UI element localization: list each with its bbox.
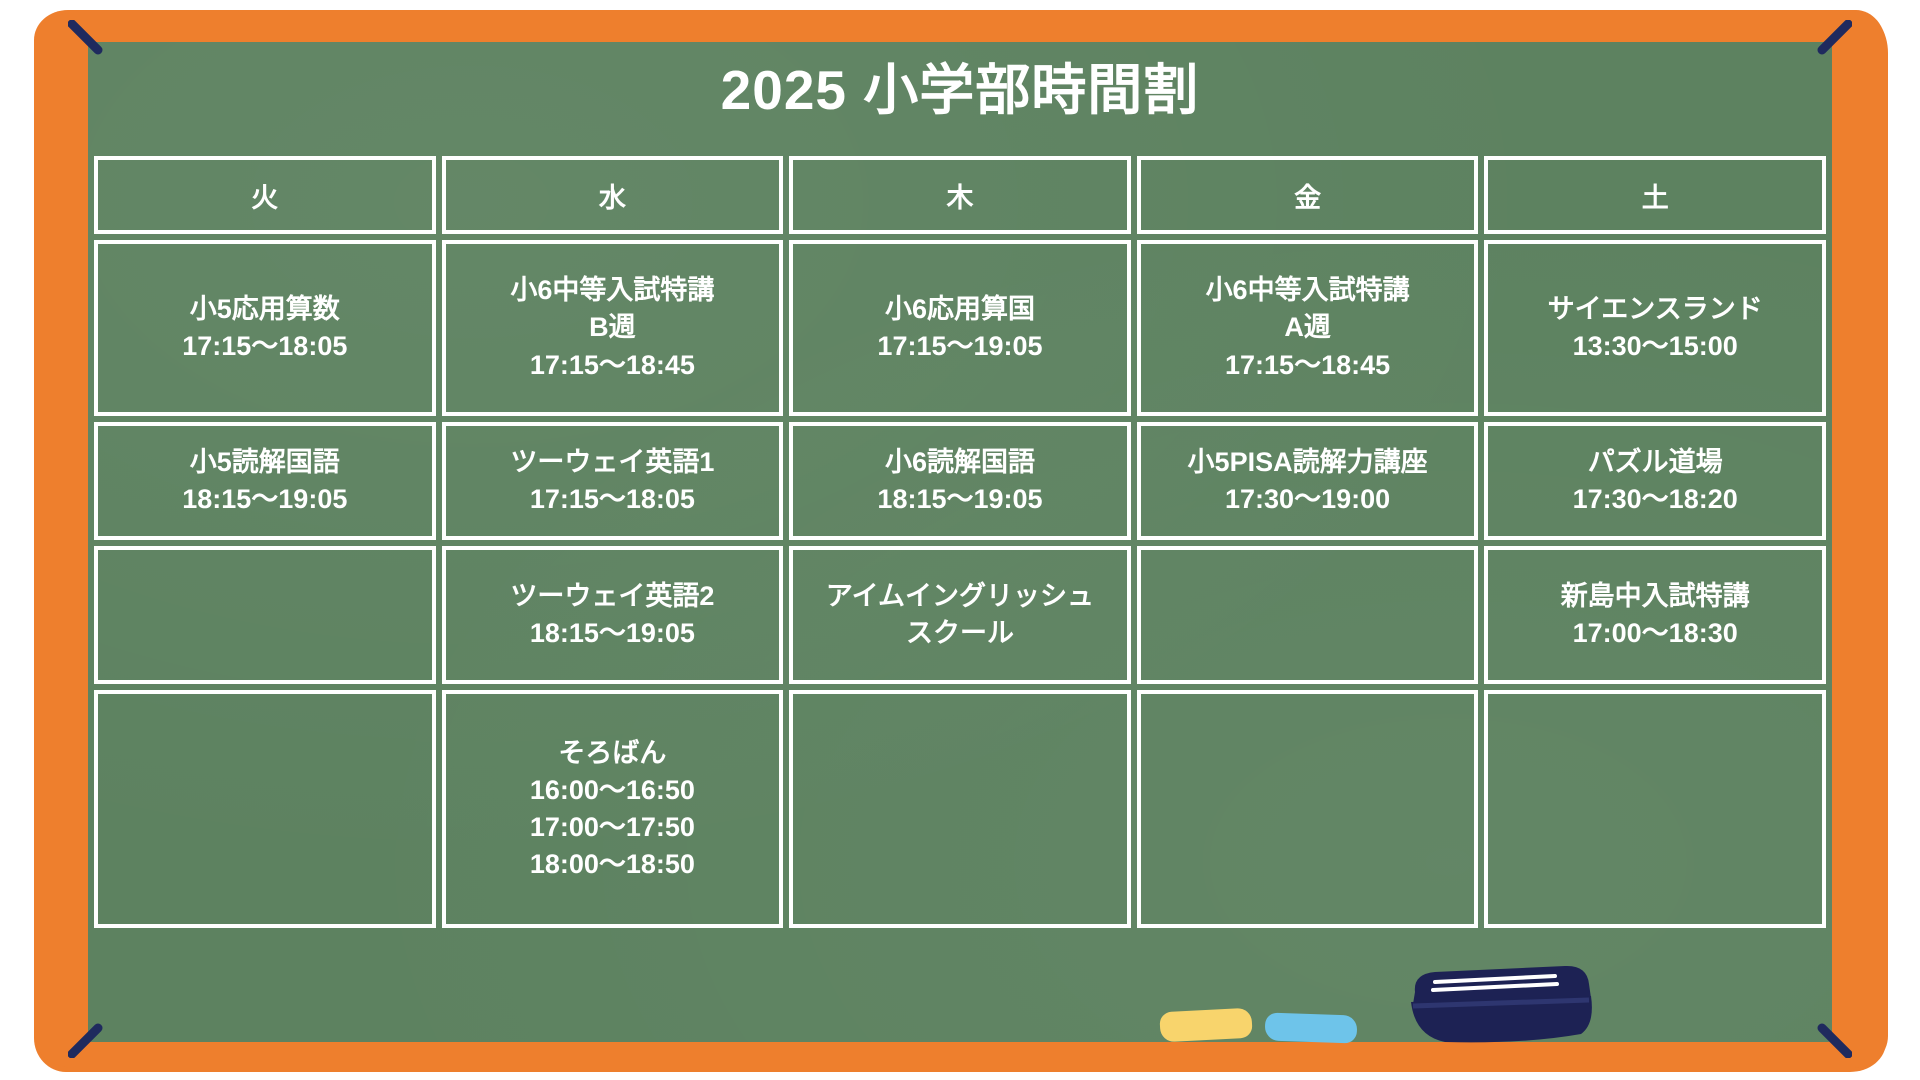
class-time-2: 17:00〜17:50 <box>450 809 776 846</box>
yellow-chalk-icon <box>1159 1008 1252 1043</box>
class-name: そろばん <box>450 735 776 772</box>
class-time: 13:30〜15:00 <box>1492 328 1818 365</box>
class-subtitle: B週 <box>450 309 776 346</box>
class-time: 17:15〜18:45 <box>450 347 776 384</box>
class-cell: 小5PISA読解力講座 17:30〜19:00 <box>1137 422 1479 540</box>
class-time-1: 16:00〜16:50 <box>450 772 776 809</box>
class-time: 17:15〜18:05 <box>102 328 428 365</box>
class-cell: 小6読解国語 18:15〜19:05 <box>789 422 1131 540</box>
class-time: 18:15〜19:05 <box>102 481 428 518</box>
class-name: 小6中等入試特講 <box>1145 272 1471 309</box>
class-time: 18:15〜19:05 <box>450 615 776 652</box>
class-name: ツーウェイ英語2 <box>450 578 776 615</box>
class-name: アイムイングリッシュ <box>797 578 1123 615</box>
class-name: 小5PISA読解力講座 <box>1145 444 1471 481</box>
corner-mark-bottom-left-icon <box>68 1006 120 1058</box>
timetable-row: 小5読解国語 18:15〜19:05 ツーウェイ英語1 17:15〜18:05 … <box>94 422 1826 540</box>
class-cell: 小6応用算国 17:15〜19:05 <box>789 240 1131 416</box>
page-title: 2025 小学部時間割 <box>88 60 1832 121</box>
class-time-3: 18:00〜18:50 <box>450 846 776 883</box>
class-time: 17:30〜19:00 <box>1145 481 1471 518</box>
class-time: 17:15〜18:45 <box>1145 347 1471 384</box>
class-time: 17:30〜18:20 <box>1492 481 1818 518</box>
class-cell: 小5読解国語 18:15〜19:05 <box>94 422 436 540</box>
class-cell: サイエンスランド 13:30〜15:00 <box>1484 240 1826 416</box>
corner-mark-bottom-right-icon <box>1800 1006 1852 1058</box>
column-header-wednesday: 水 <box>442 156 784 234</box>
class-name: ツーウェイ英語1 <box>450 444 776 481</box>
class-name: 小5応用算数 <box>102 291 428 328</box>
column-header-tuesday: 火 <box>94 156 436 234</box>
class-cell-empty <box>1484 690 1826 928</box>
column-header-thursday: 木 <box>789 156 1131 234</box>
timetable-row: 小5応用算数 17:15〜18:05 小6中等入試特講 B週 17:15〜18:… <box>94 240 1826 416</box>
timetable: 火 水 木 金 土 小5応用算数 17:15〜18:05 小6中等入試特講 B週 <box>88 150 1832 934</box>
class-cell-empty <box>94 546 436 684</box>
class-subtitle: A週 <box>1145 309 1471 346</box>
class-cell: 新島中入試特講 17:00〜18:30 <box>1484 546 1826 684</box>
blue-chalk-icon <box>1265 1012 1358 1043</box>
class-cell: パズル道場 17:30〜18:20 <box>1484 422 1826 540</box>
column-header-friday: 金 <box>1137 156 1479 234</box>
class-cell-empty <box>1137 690 1479 928</box>
class-time: 17:00〜18:30 <box>1492 615 1818 652</box>
class-cell: 小6中等入試特講 A週 17:15〜18:45 <box>1137 240 1479 416</box>
column-header-saturday: 土 <box>1484 156 1826 234</box>
class-time: 18:15〜19:05 <box>797 481 1123 518</box>
timetable-container: 火 水 木 金 土 小5応用算数 17:15〜18:05 小6中等入試特講 B週 <box>88 150 1832 934</box>
class-cell: アイムイングリッシュ スクール <box>789 546 1131 684</box>
class-time: 17:15〜19:05 <box>797 328 1123 365</box>
timetable-row: そろばん 16:00〜16:50 17:00〜17:50 18:00〜18:50 <box>94 690 1826 928</box>
blackboard-timetable-poster: 2025 小学部時間割 火 水 木 金 土 小5応用算数 17:15〜18:05 <box>0 0 1920 1080</box>
class-cell-empty <box>1137 546 1479 684</box>
class-name: サイエンスランド <box>1492 291 1818 328</box>
class-cell-empty <box>94 690 436 928</box>
class-cell: ツーウェイ英語2 18:15〜19:05 <box>442 546 784 684</box>
class-name: 小5読解国語 <box>102 444 428 481</box>
class-name-2: スクール <box>797 615 1123 652</box>
class-cell: ツーウェイ英語1 17:15〜18:05 <box>442 422 784 540</box>
blackboard-eraser-icon <box>1405 962 1595 1044</box>
class-name: 小6応用算国 <box>797 291 1123 328</box>
class-cell-empty <box>789 690 1131 928</box>
class-cell: 小5応用算数 17:15〜18:05 <box>94 240 436 416</box>
class-name: 小6中等入試特講 <box>450 272 776 309</box>
timetable-header-row: 火 水 木 金 土 <box>94 156 1826 234</box>
class-name: パズル道場 <box>1492 444 1818 481</box>
class-name: 小6読解国語 <box>797 444 1123 481</box>
class-cell: 小6中等入試特講 B週 17:15〜18:45 <box>442 240 784 416</box>
class-name: 新島中入試特講 <box>1492 578 1818 615</box>
timetable-row: ツーウェイ英語2 18:15〜19:05 アイムイングリッシュ スクール 新島中… <box>94 546 1826 684</box>
class-time: 17:15〜18:05 <box>450 481 776 518</box>
class-cell: そろばん 16:00〜16:50 17:00〜17:50 18:00〜18:50 <box>442 690 784 928</box>
